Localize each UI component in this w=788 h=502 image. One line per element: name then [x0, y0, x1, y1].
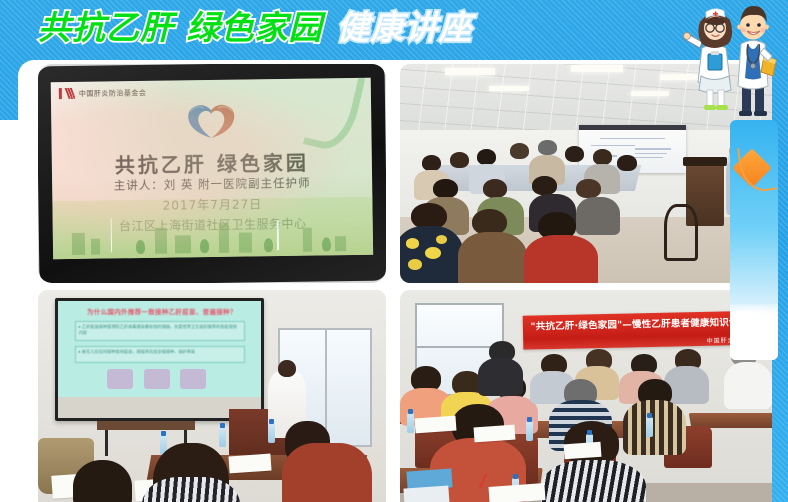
- slide-eco-illustration: [52, 197, 373, 259]
- poster-stage: 共抗乙肝 绿色家园健康讲座: [0, 0, 788, 502]
- notebook: [489, 483, 546, 502]
- handout-paper: [563, 441, 601, 458]
- foundation-logo-text: 中国肝炎防治基金会: [79, 87, 147, 98]
- slide-speaker-line: 主讲人：刘 英 附一医院副主任护师: [52, 174, 372, 194]
- sky-strip-decoration: [730, 120, 778, 360]
- water-bottle: [407, 413, 414, 433]
- slide-bullet-1: ▸ 乙肝疫苗接种是预防乙肝病毒感染最有效的措施，也是世界卫生组织推荐的免疫规划内…: [75, 321, 245, 341]
- title-green-text: 共抗乙肝 绿色家园: [38, 8, 323, 47]
- attendee-body: [282, 443, 372, 502]
- photo-slide-title[interactable]: 中国肝炎防治基金会 共抗乙肝 绿色家园 主讲人：刘 英 附一医院副主任护师 20…: [38, 64, 386, 283]
- cartoon-medical-staff: [678, 0, 788, 128]
- handout-paper: [414, 416, 456, 434]
- attendee-body: [724, 362, 772, 409]
- photo-speaker-screen[interactable]: 为什么国内外推荐一致接种乙肝疫苗、普遍接种？ ▸ 乙肝疫苗接种是预防乙肝病毒感染…: [38, 290, 386, 502]
- attendee-body-plaid: [623, 400, 686, 455]
- classroom-scene: "共抗乙肝·绿色家园"—慢性乙肝患者健康知识讲座 中国肝炎防治基金会: [400, 290, 772, 502]
- title-white-text: 健康讲座: [337, 8, 473, 47]
- water-bottle: [219, 427, 226, 447]
- presenter-head: [278, 360, 295, 377]
- water-bottle: [526, 421, 533, 441]
- attendee-head: [73, 460, 132, 502]
- attendee-body-front: [541, 460, 645, 502]
- slide-green-swirl-decoration: [303, 78, 366, 155]
- handout-paper: [229, 454, 272, 474]
- foundation-logo-mark: [59, 88, 75, 99]
- slide-bullet-2: ▸ 新生儿应及时接种首剂疫苗，按程序完成全程接种，保护率高: [75, 346, 245, 364]
- bench-table: [97, 421, 194, 429]
- attendee-body: [478, 358, 523, 396]
- handout-paper: [474, 424, 516, 442]
- photo-grid: 中国肝炎防治基金会 共抗乙肝 绿色家园 主讲人：刘 英 附一医院副主任护师 20…: [0, 58, 788, 502]
- presentation-slide: 中国肝炎防治基金会 共抗乙肝 绿色家园 主讲人：刘 英 附一医院副主任护师 20…: [51, 78, 373, 259]
- projector-screen-frame: 中国肝炎防治基金会 共抗乙肝 绿色家园 主讲人：刘 英 附一医院副主任护师 20…: [38, 64, 386, 283]
- sky-cloud: [730, 304, 778, 360]
- projection-screen: 为什么国内外推荐一致接种乙肝疫苗、普遍接种？ ▸ 乙肝疫苗接种是预防乙肝病毒感染…: [55, 298, 264, 421]
- foundation-logo: 中国肝炎防治基金会: [59, 87, 147, 99]
- classroom-scene: 为什么国内外推荐一致接种乙肝疫苗、普遍接种？ ▸ 乙肝疫苗接种是预防乙肝病毒感染…: [38, 290, 386, 502]
- page-title: 共抗乙肝 绿色家园健康讲座: [38, 6, 473, 50]
- water-bottle: [646, 417, 653, 437]
- kite-tail: [737, 144, 777, 194]
- nurse-and-doctor-icon: [678, 0, 788, 128]
- photo-audience-banner[interactable]: "共抗乙肝·绿色家园"—慢性乙肝患者健康知识讲座 中国肝炎防治基金会: [400, 290, 772, 502]
- poster-header: 共抗乙肝 绿色家园健康讲座: [0, 0, 788, 60]
- heart-hands-logo-icon: [182, 100, 241, 141]
- water-bottle: [268, 423, 275, 443]
- audience-crowd: [400, 134, 675, 283]
- brochure: [403, 486, 449, 502]
- slide-question-title: 为什么国内外推荐一致接种乙肝疫苗、普遍接种？: [75, 306, 249, 316]
